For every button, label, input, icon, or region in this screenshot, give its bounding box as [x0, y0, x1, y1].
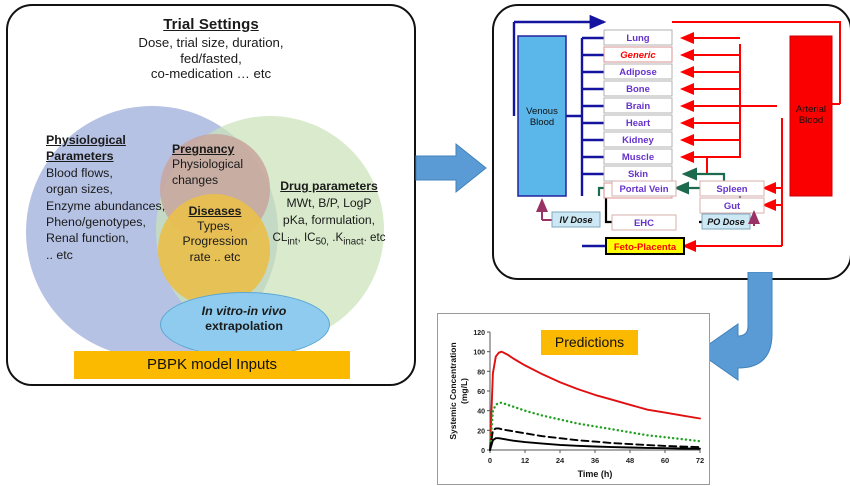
drug-parameters-line-2: pKa, formulation,	[256, 212, 402, 229]
pregnancy-line-2: changes	[172, 173, 264, 188]
x-tick-label: 12	[521, 456, 529, 465]
organ-label: Spleen	[716, 184, 747, 195]
svg-text:Blood: Blood	[799, 115, 823, 126]
organ-box-adipose: Adipose	[604, 64, 672, 79]
pbpk-model-inputs-banner: PBPK model Inputs	[74, 351, 350, 379]
organ-label: Adipose	[619, 67, 656, 78]
drug-parameters-line-1: MWt, B/P, LogP	[256, 195, 402, 212]
x-tick-label: 48	[626, 456, 634, 465]
organ-box-gut: Gut	[700, 198, 764, 213]
pbpk-model-inputs-panel: Trial Settings Dose, trial size, duratio…	[6, 4, 416, 386]
trial-settings-text: Dose, trial size, duration, fed/fasted, …	[8, 35, 414, 82]
organ-box-heart: Heart	[604, 115, 672, 130]
organ-box-bone: Bone	[604, 81, 672, 96]
y-tick-label: 120	[473, 330, 485, 337]
iv-dose-label: IV Dose	[559, 215, 592, 225]
chart-series-medium-exposure	[490, 403, 700, 450]
organ-box-muscle: Muscle	[604, 149, 672, 164]
trial-settings-title: Trial Settings	[8, 16, 414, 33]
x-tick-label: 72	[696, 456, 704, 465]
kinact-label: .K	[329, 231, 343, 244]
organ-label: Skin	[628, 169, 648, 180]
trial-settings-line-3: co-medication … etc	[8, 66, 414, 82]
y-tick-label: 80	[477, 369, 485, 376]
diseases-line-3: rate .. etc	[160, 250, 270, 265]
organ-label: Lung	[626, 33, 649, 44]
x-tick-label: 0	[488, 456, 492, 465]
ic50-label: , IC	[298, 231, 316, 244]
drug-line3-suffix: . etc	[364, 231, 386, 244]
svg-text:Blood: Blood	[530, 117, 554, 128]
pbpk-model-structure-panel: Venous Blood Arterial Blood LungGenericA…	[492, 4, 850, 280]
organ-label: Bone	[626, 84, 650, 95]
diseases-title: Diseases	[160, 204, 270, 219]
organ-label: Generic	[620, 50, 656, 61]
kinact-subscript: inact	[343, 236, 363, 247]
y-axis-label-line-2: (mg/L)	[459, 378, 469, 404]
drug-parameters-line-3: CLint, IC50, .Kinact. etc	[256, 229, 402, 250]
organ-box-generic: Generic	[604, 47, 672, 62]
chart-series-lowest-exposure	[490, 438, 700, 450]
organ-box-lung: Lung	[604, 30, 672, 45]
organ-label: Kidney	[622, 135, 654, 146]
predictions-banner: Predictions	[541, 330, 638, 355]
organ-label: Heart	[626, 118, 651, 129]
organ-label: Muscle	[622, 152, 654, 163]
pregnancy-line-1: Physiological	[172, 157, 264, 172]
y-tick-label: 40	[477, 409, 485, 416]
clint-label: CL	[272, 231, 287, 244]
y-axis-label-line-1: Systemic Concentration	[448, 342, 458, 439]
ivive-text: In vitro-in vivo extrapolation	[160, 304, 328, 334]
pregnancy-text: Pregnancy Physiological changes	[172, 142, 264, 188]
organ-label: EHC	[634, 218, 654, 229]
ivive-line-2: extrapolation	[160, 319, 328, 334]
chart-series-high-exposure	[490, 352, 700, 450]
pregnancy-title: Pregnancy	[172, 142, 264, 157]
diseases-text: Diseases Types, Progression rate .. etc	[160, 204, 270, 265]
x-tick-label: 36	[591, 456, 599, 465]
pbpk-structure-diagram: Venous Blood Arterial Blood LungGenericA…	[494, 6, 850, 278]
trial-settings-line-1: Dose, trial size, duration,	[8, 35, 414, 51]
organ-box-ehc: EHC	[612, 215, 676, 230]
feto-placenta-label: Feto-Placenta	[614, 242, 677, 253]
organ-label: Portal Vein	[619, 184, 668, 195]
x-tick-label: 24	[556, 456, 565, 465]
clint-subscript: int	[287, 236, 297, 247]
y-tick-label: 60	[477, 389, 485, 396]
svg-text:Arterial: Arterial	[796, 104, 826, 115]
ivive-line-1: In vitro-in vivo	[160, 304, 328, 319]
x-axis-label: Time (h)	[578, 469, 613, 479]
x-tick-label: 60	[661, 456, 669, 465]
y-tick-label: 20	[477, 428, 485, 435]
diseases-line-1: Types,	[160, 219, 270, 234]
drug-parameters-text: Drug parameters MWt, B/P, LogP pKa, form…	[256, 178, 402, 250]
ic50-subscript: 50,	[316, 236, 329, 247]
drug-parameters-title: Drug parameters	[256, 178, 402, 195]
organ-box-portal-vein: Portal Vein	[612, 181, 676, 196]
organ-box-brain: Brain	[604, 98, 672, 113]
po-dose-label: PO Dose	[707, 217, 745, 227]
y-tick-label: 100	[473, 350, 485, 357]
trial-settings-line-2: fed/fasted,	[8, 51, 414, 67]
y-tick-label: 0	[481, 448, 485, 455]
arrow-inputs-to-structure-icon	[414, 140, 490, 196]
organ-box-skin: Skin	[604, 166, 672, 181]
organ-box-spleen: Spleen	[700, 181, 764, 196]
organ-label: Gut	[724, 201, 741, 212]
svg-text:Venous: Venous	[526, 106, 558, 117]
organ-box-kidney: Kidney	[604, 132, 672, 147]
diseases-line-2: Progression	[160, 234, 270, 249]
organ-label: Brain	[626, 101, 650, 112]
